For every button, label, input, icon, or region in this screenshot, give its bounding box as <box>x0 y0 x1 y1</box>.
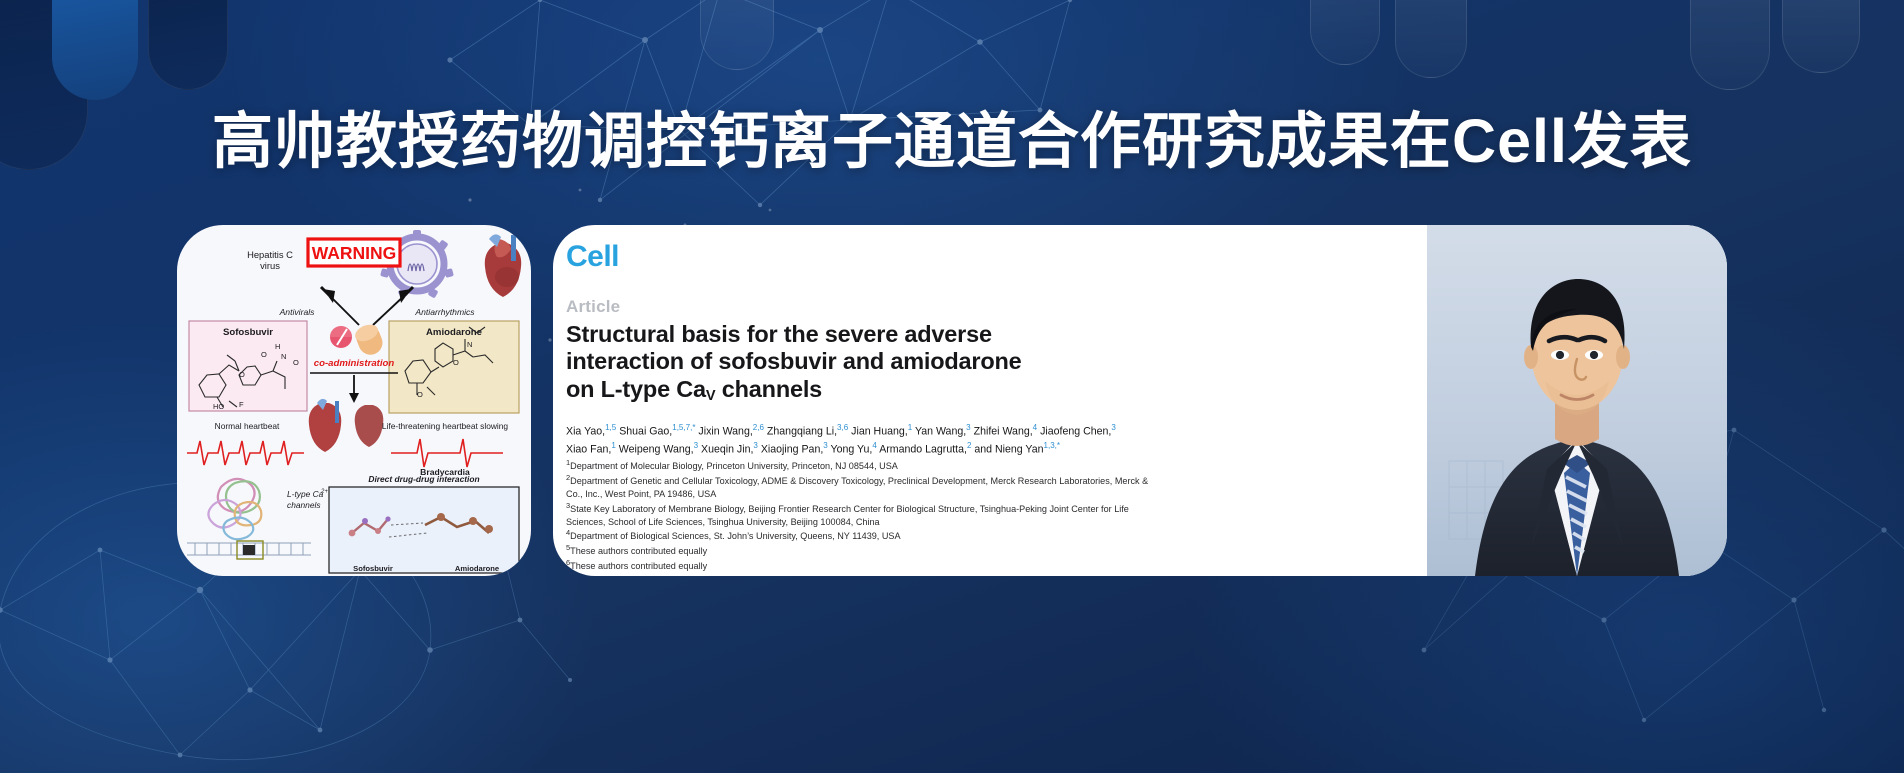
paper-title-line3: on L-type CaV channels <box>566 376 1195 405</box>
label-ltype-sup: 2+ <box>320 489 328 495</box>
author-name: Yan Wang, <box>912 426 966 438</box>
author-line-2: Xiao Fan,1 Weipeng Wang,3 Xueqin Jin,3 X… <box>566 440 1166 458</box>
label-ltype-line2: channels <box>287 500 321 510</box>
banner-root: 高帅教授药物调控钙离子通道合作研究成果在Cell发表 <box>0 0 1904 773</box>
down-arrow-icon <box>349 375 359 403</box>
label-antiarrhythmics: Antiarrhythmics <box>414 307 475 317</box>
label-amiodarone-bottom: Amiodarone <box>455 564 499 573</box>
author-name: Shuai Gao, <box>616 426 672 438</box>
label-sofosbuvir-bottom: Sofosbuvir <box>353 564 393 573</box>
label-atom-O: O <box>453 358 459 367</box>
deco-pill <box>700 0 774 70</box>
author-name: Zhangqiang Li, <box>764 426 837 438</box>
label-atom-O: O <box>261 350 267 359</box>
author-name: Armando Lagrutta, <box>877 443 967 455</box>
label-direct-interaction: Direct drug-drug interaction <box>368 474 479 484</box>
author-line-1: Xia Yao,1,5 Shuai Gao,1,5,7,* Jixin Wang… <box>566 422 1166 440</box>
affiliation-list: 1Department of Molecular Biology, Prince… <box>566 458 1166 576</box>
label-normal-heartbeat: Normal heartbeat <box>215 421 280 431</box>
deco-pill <box>1782 0 1860 73</box>
affiliation-item: 2Department of Genetic and Cellular Toxi… <box>566 473 1166 501</box>
deco-pill <box>148 0 228 90</box>
cell-journal-logo: Cell <box>566 242 1195 272</box>
paper-title-line2: interaction of sofosbuvir and amiodarone <box>566 348 1195 375</box>
paper-card: Cell Article Structural basis for the se… <box>553 225 1727 576</box>
affiliation-item: 7Present address: Department of Radiolog… <box>566 573 1166 576</box>
label-hepatitis-line2: virus <box>260 260 280 271</box>
portrait-photo <box>1427 225 1727 576</box>
label-hepatitis-line1: Hepatitis C <box>247 249 293 260</box>
label-atom-HO: HO <box>213 402 224 411</box>
label-atom-O: O <box>417 390 423 399</box>
heart-normal-icon <box>309 399 342 452</box>
label-co-administration: co-administration <box>314 358 395 369</box>
ecg-normal-trace <box>187 441 304 465</box>
author-name: Jian Huang, <box>848 426 907 438</box>
graphical-abstract-card: Hepatitis C virus WARNING <box>177 225 531 576</box>
label-atom-N: N <box>281 352 286 361</box>
author-affiliation-marker: 1,5,7,* <box>672 423 695 432</box>
author-name: Xiaojing Pan, <box>758 443 823 455</box>
affiliation-item: 1Department of Molecular Biology, Prince… <box>566 458 1166 473</box>
label-atom-H: H <box>275 342 280 351</box>
affiliation-item: 4Department of Biological Sciences, St. … <box>566 528 1166 543</box>
author-name: Weipeng Wang, <box>616 443 694 455</box>
label-ltype-line1: L-type Ca <box>287 489 324 499</box>
label-atom-N: N <box>467 340 472 349</box>
author-affiliation-marker: 1,3,* <box>1044 441 1061 450</box>
paper-title: Structural basis for the severe adverse … <box>566 321 1195 405</box>
affiliation-item: 6These authors contributed equally <box>566 558 1166 573</box>
warning-badge: WARNING <box>308 239 400 266</box>
ecg-brady-trace <box>391 439 503 467</box>
author-name: Jiaofeng Chen, <box>1037 426 1111 438</box>
affiliation-item: 5These authors contributed equally <box>566 543 1166 558</box>
affiliation-item: 3State Key Laboratory of Membrane Biolog… <box>566 501 1166 529</box>
direct-interaction-inset: Direct drug-drug interaction <box>329 474 519 573</box>
title-line3-post: channels <box>715 376 822 402</box>
author-name: Jixin Wang, <box>695 426 752 438</box>
article-kicker: Article <box>566 297 1195 317</box>
content-cards: Hepatitis C virus WARNING <box>0 225 1904 585</box>
author-name: Xia Yao, <box>566 426 605 438</box>
author-name: Yong Yu, <box>828 443 873 455</box>
heart-slow-icon <box>355 405 384 447</box>
title-line3-sub: V <box>706 388 716 404</box>
graphical-abstract-figure: Hepatitis C virus WARNING <box>177 225 531 576</box>
pills-icon <box>330 322 386 359</box>
author-list: Xia Yao,1,5 Shuai Gao,1,5,7,* Jixin Wang… <box>566 422 1166 457</box>
author-affiliation-marker: 1,5 <box>605 423 616 432</box>
title-line3-pre: on L-type Ca <box>566 376 706 402</box>
author-affiliation-marker: 3,6 <box>837 423 848 432</box>
label-atom-O: O <box>239 370 245 379</box>
author-affiliation-marker: 2,6 <box>753 423 764 432</box>
deco-pill <box>1395 0 1467 78</box>
author-affiliation-marker: 3 <box>1111 423 1115 432</box>
paper-title-line1: Structural basis for the severe adverse <box>566 321 1195 348</box>
label-atom-O: O <box>293 358 299 367</box>
sofosbuvir-panel: Sofosbuvir H N O O O HO <box>189 321 307 411</box>
label-atom-F: F <box>239 400 244 409</box>
deco-pill <box>52 0 138 100</box>
label-life-threatening: Life-threatening heartbeat slowing <box>382 421 509 431</box>
page-title: 高帅教授药物调控钙离子通道合作研究成果在Cell发表 <box>0 108 1904 175</box>
amiodarone-panel: Amiodarone N O O <box>389 321 519 413</box>
paper-text-block: Cell Article Structural basis for the se… <box>553 225 1195 576</box>
heart-icon <box>485 234 521 297</box>
label-antivirals: Antivirals <box>279 307 316 317</box>
portrait-illustration <box>1427 225 1727 576</box>
author-name: Zhifei Wang, <box>971 426 1033 438</box>
author-name: Xueqin Jin, <box>698 443 753 455</box>
deco-pill <box>1690 0 1770 90</box>
author-name: and Nieng Yan <box>971 443 1043 455</box>
label-warning: WARNING <box>312 243 397 263</box>
label-amiodarone: Amiodarone <box>426 327 482 338</box>
author-name: Xiao Fan, <box>566 443 611 455</box>
label-sofosbuvir: Sofosbuvir <box>223 327 273 338</box>
deco-pill <box>1310 0 1380 65</box>
